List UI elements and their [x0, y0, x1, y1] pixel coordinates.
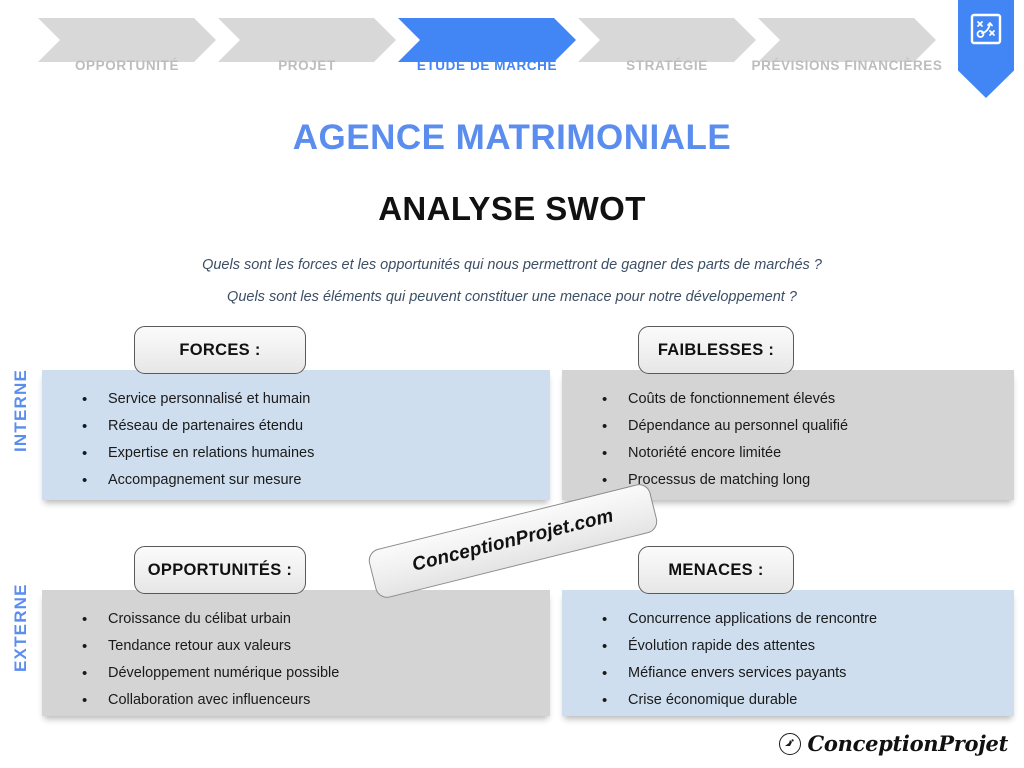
list-item: Méfiance envers services payants	[562, 660, 1014, 687]
quadrant-forces-body: Service personnalisé et humain Réseau de…	[42, 370, 550, 500]
quadrant-forces-title: FORCES :	[179, 341, 260, 360]
list-item: Concurrence applications de rencontre	[562, 606, 1014, 633]
quadrant-forces-header: FORCES :	[134, 326, 306, 374]
footer-logo: ConceptionProjet	[779, 731, 1009, 756]
quadrant-faiblesses: Coûts de fonctionnement élevés Dépendanc…	[562, 326, 1014, 506]
step-chevron-etude-de-marche[interactable]	[398, 18, 576, 62]
list-item: Tendance retour aux valeurs	[42, 633, 550, 660]
quadrant-forces: Service personnalisé et humain Réseau de…	[42, 326, 550, 506]
process-breadcrumb: OPPORTUNITÉ PROJET ÉTUDE DE MARCHÉ STRAT…	[0, 0, 1024, 92]
strategy-board-icon	[969, 12, 1003, 46]
axis-label-interne: INTERNE	[11, 418, 31, 452]
forces-list: Service personnalisé et humain Réseau de…	[42, 370, 550, 494]
list-item: Expertise en relations humaines	[42, 440, 550, 467]
step-label-previsions-financieres[interactable]: PRÉVISIONS FINANCIÈRES	[728, 58, 966, 73]
list-item: Coûts de fonctionnement élevés	[562, 386, 1014, 413]
swot-slide: OPPORTUNITÉ PROJET ÉTUDE DE MARCHÉ STRAT…	[0, 0, 1024, 768]
list-item: Service personnalisé et humain	[42, 386, 550, 413]
footer-logo-text: ConceptionProjet	[808, 731, 1009, 756]
axis-label-externe: EXTERNE	[11, 638, 31, 672]
faiblesses-list: Coûts de fonctionnement élevés Dépendanc…	[562, 370, 1014, 494]
list-item: Notoriété encore limitée	[562, 440, 1014, 467]
list-item: Croissance du célibat urbain	[42, 606, 550, 633]
step-chevron-opportunite[interactable]	[38, 18, 216, 62]
company-title: AGENCE MATRIMONIALE	[0, 118, 1024, 158]
step-label-opportunite[interactable]: OPPORTUNITÉ	[38, 58, 216, 73]
list-item: Développement numérique possible	[42, 660, 550, 687]
list-item: Réseau de partenaires étendu	[42, 413, 550, 440]
quadrant-faiblesses-title: FAIBLESSES :	[658, 341, 774, 360]
subtitle-line-1: Quels sont les forces et les opportunité…	[0, 257, 1024, 273]
list-item: Dépendance au personnel qualifié	[562, 413, 1014, 440]
quadrant-faiblesses-body: Coûts de fonctionnement élevés Dépendanc…	[562, 370, 1014, 500]
document-title: ANALYSE SWOT	[0, 190, 1024, 228]
step-label-etude-de-marche[interactable]: ÉTUDE DE MARCHÉ	[388, 58, 586, 73]
quadrant-menaces-title: MENACES :	[668, 561, 763, 580]
menaces-list: Concurrence applications de rencontre Év…	[562, 590, 1014, 714]
quadrant-opportunites-header: OPPORTUNITÉS :	[134, 546, 306, 594]
opportunites-list: Croissance du célibat urbain Tendance re…	[42, 590, 550, 714]
quadrant-opportunites-body: Croissance du célibat urbain Tendance re…	[42, 590, 550, 716]
quadrant-menaces-body: Concurrence applications de rencontre Év…	[562, 590, 1014, 716]
quadrant-menaces-header: MENACES :	[638, 546, 794, 594]
conception-projet-mark-icon	[779, 733, 801, 755]
quadrant-opportunites-title: OPPORTUNITÉS :	[148, 561, 292, 580]
list-item: Accompagnement sur mesure	[42, 467, 550, 494]
list-item: Collaboration avec influenceurs	[42, 687, 550, 714]
step-chevron-projet[interactable]	[218, 18, 396, 62]
quadrant-menaces: Concurrence applications de rencontre Év…	[562, 546, 1014, 722]
subtitle-line-2: Quels sont les éléments qui peuvent cons…	[0, 289, 1024, 305]
list-item: Évolution rapide des attentes	[562, 633, 1014, 660]
step-chevron-strategie[interactable]	[578, 18, 756, 62]
step-label-projet[interactable]: PROJET	[218, 58, 396, 73]
list-item: Crise économique durable	[562, 687, 1014, 714]
step-chevron-previsions-financieres[interactable]	[758, 18, 936, 62]
quadrant-faiblesses-header: FAIBLESSES :	[638, 326, 794, 374]
